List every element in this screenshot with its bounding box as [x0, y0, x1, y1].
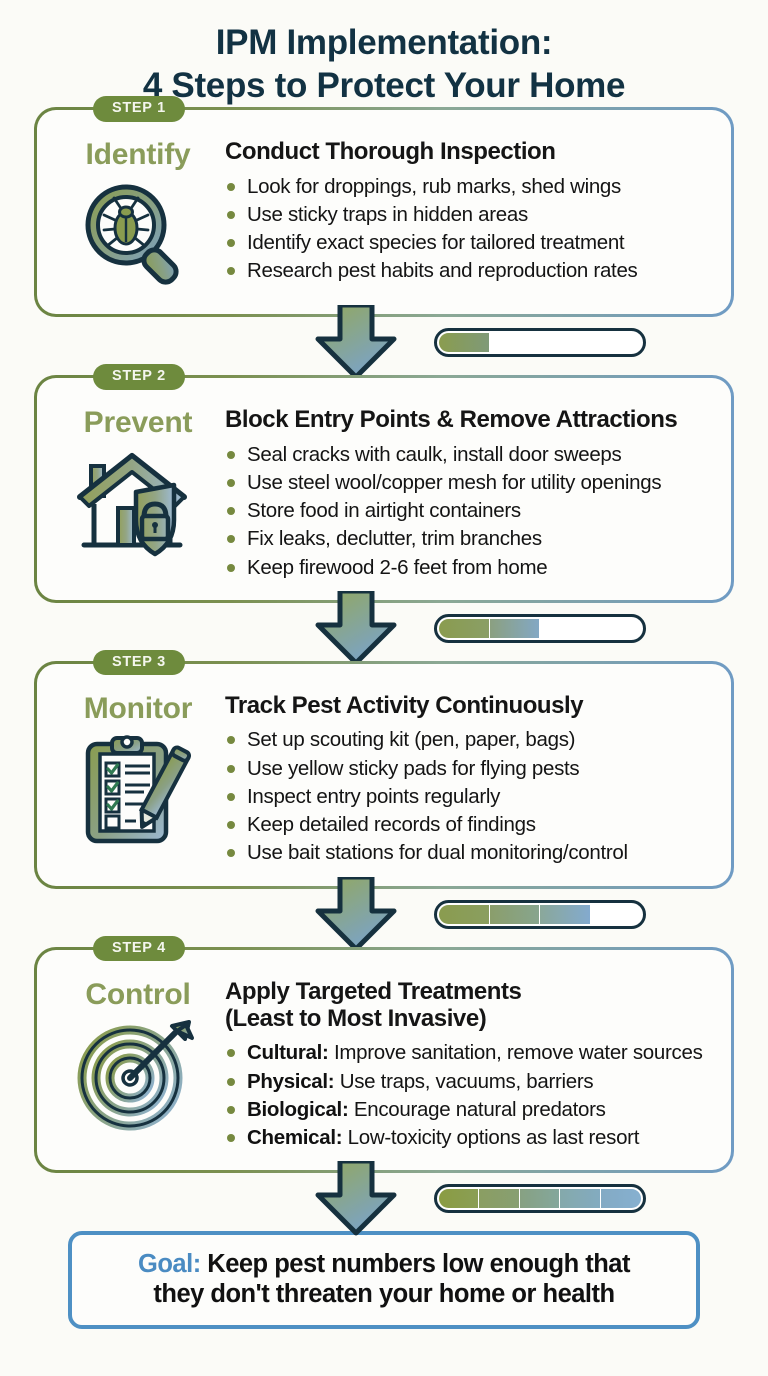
list-item: Biological: Encourage natural predators: [225, 1096, 715, 1123]
down-arrow-icon: [310, 591, 402, 667]
bullet-text: Improve sanitation, remove water sources: [329, 1041, 703, 1064]
bullet-text: Set up scouting kit (pen, paper, bags): [247, 728, 575, 751]
step-left-column-1: Identify: [55, 136, 221, 296]
down-arrow-icon: [310, 877, 402, 953]
step-card-3[interactable]: STEP 3 Monitor: [34, 661, 734, 889]
bullet-text: Use steel wool/copper mesh for utility o…: [247, 471, 661, 494]
list-item: Identify exact species for tailored trea…: [225, 229, 715, 256]
list-item: Look for droppings, rub marks, shed wing…: [225, 173, 715, 200]
bullet-text: Keep detailed records of findings: [247, 813, 536, 836]
step-heading-1: Conduct Thorough Inspection: [225, 138, 715, 165]
list-item: Keep firewood 2-6 feet from home: [225, 554, 715, 581]
step-bullets-4: Cultural: Improve sanitation, remove wat…: [225, 1039, 715, 1151]
step-badge-3: STEP 3: [93, 650, 185, 676]
step-card-1[interactable]: STEP 1 Identify: [34, 107, 734, 317]
title-line-1: IPM Implementation:: [0, 22, 768, 65]
list-item: Inspect entry points regularly: [225, 783, 715, 810]
goal-wrapper: Goal: Keep pest numbers low enough that …: [68, 1231, 700, 1329]
step-badge-1: STEP 1: [93, 96, 185, 122]
bullet-text: Encourage natural predators: [348, 1098, 605, 1121]
step-label-2: Prevent: [55, 408, 221, 438]
list-item: Set up scouting kit (pen, paper, bags): [225, 726, 715, 753]
bullet-lead: Cultural:: [247, 1041, 329, 1064]
goal-label: Goal:: [138, 1250, 201, 1278]
bullet-text: Use sticky traps in hidden areas: [247, 203, 528, 226]
bullet-lead: Chemical:: [247, 1126, 342, 1149]
progress-bar-3: [434, 900, 646, 929]
infographic-page: IPM Implementation: 4 Steps to Protect Y…: [0, 0, 768, 1376]
target-arrow-icon: [74, 1016, 202, 1136]
list-item: Seal cracks with caulk, install door swe…: [225, 441, 715, 468]
list-item: Chemical: Low-toxicity options as last r…: [225, 1124, 715, 1151]
bullet-text: Identify exact species for tailored trea…: [247, 231, 624, 254]
goal-text: Goal: Keep pest numbers low enough that …: [86, 1249, 682, 1309]
clipboard-pencil-icon: [74, 730, 202, 850]
list-item: Physical: Use traps, vacuums, barriers: [225, 1068, 715, 1095]
bullet-text: Seal cracks with caulk, install door swe…: [247, 443, 622, 466]
step-left-column-4: Control: [55, 976, 221, 1136]
magnifier-bug-icon: [74, 176, 202, 296]
goal-line-2: they don't threaten your home or health: [153, 1280, 614, 1308]
step-left-column-2: Prevent: [55, 404, 221, 564]
list-item: Cultural: Improve sanitation, remove wat…: [225, 1039, 715, 1066]
page-title: IPM Implementation: 4 Steps to Protect Y…: [0, 0, 768, 107]
progress-bar-4: [434, 1184, 646, 1213]
down-arrow-icon: [310, 1161, 402, 1237]
step-bullets-3: Set up scouting kit (pen, paper, bags) U…: [225, 726, 715, 866]
list-item: Use bait stations for dual monitoring/co…: [225, 839, 715, 866]
house-shield-lock-icon: [74, 444, 202, 564]
progress-bar-1: [434, 328, 646, 357]
bullet-text: Keep firewood 2-6 feet from home: [247, 556, 547, 579]
goal-line-1: Keep pest numbers low enough that: [201, 1250, 630, 1278]
step-card-2[interactable]: STEP 2 Prevent: [34, 375, 734, 603]
bullet-lead: Biological:: [247, 1098, 348, 1121]
bullet-text: Low-toxicity options as last resort: [342, 1126, 639, 1149]
step-heading-2: Block Entry Points & Remove Attractions: [225, 406, 715, 433]
step-card-4[interactable]: STEP 4 Control: [34, 947, 734, 1174]
step-bullets-1: Look for droppings, rub marks, shed wing…: [225, 173, 715, 285]
bullet-text: Fix leaks, declutter, trim branches: [247, 527, 542, 550]
bullet-text: Research pest habits and reproduction ra…: [247, 259, 638, 282]
list-item: Store food in airtight containers: [225, 497, 715, 524]
step-label-1: Identify: [55, 140, 221, 170]
bullet-lead: Physical:: [247, 1070, 334, 1093]
step-heading-3: Track Pest Activity Continuously: [225, 692, 715, 719]
list-item: Fix leaks, declutter, trim branches: [225, 525, 715, 552]
step-label-3: Monitor: [55, 694, 221, 724]
connector-4: [34, 1173, 734, 1231]
bullet-text: Use yellow sticky pads for flying pests: [247, 757, 579, 780]
bullet-text: Use traps, vacuums, barriers: [334, 1070, 593, 1093]
list-item: Keep detailed records of findings: [225, 811, 715, 838]
step-badge-4: STEP 4: [93, 936, 185, 962]
down-arrow-icon: [310, 305, 402, 381]
list-item: Use sticky traps in hidden areas: [225, 201, 715, 228]
bullet-text: Store food in airtight containers: [247, 499, 521, 522]
step-badge-2: STEP 2: [93, 364, 185, 390]
step-right-column-3: Track Pest Activity Continuously Set up …: [221, 690, 715, 868]
list-item: Use steel wool/copper mesh for utility o…: [225, 469, 715, 496]
step-right-column-1: Conduct Thorough Inspection Look for dro…: [221, 136, 715, 285]
step-left-column-3: Monitor: [55, 690, 221, 850]
progress-bar-2: [434, 614, 646, 643]
step-right-column-2: Block Entry Points & Remove Attractions …: [221, 404, 715, 582]
bullet-text: Use bait stations for dual monitoring/co…: [247, 841, 628, 864]
bullet-text: Inspect entry points regularly: [247, 785, 500, 808]
step-label-4: Control: [55, 980, 221, 1010]
list-item: Use yellow sticky pads for flying pests: [225, 755, 715, 782]
list-item: Research pest habits and reproduction ra…: [225, 257, 715, 284]
step-right-column-4: Apply Targeted Treatments (Least to Most…: [221, 976, 715, 1153]
bullet-text: Look for droppings, rub marks, shed wing…: [247, 175, 621, 198]
goal-box[interactable]: Goal: Keep pest numbers low enough that …: [68, 1231, 700, 1329]
step-heading-4: Apply Targeted Treatments (Least to Most…: [225, 978, 715, 1033]
step-bullets-2: Seal cracks with caulk, install door swe…: [225, 441, 715, 581]
